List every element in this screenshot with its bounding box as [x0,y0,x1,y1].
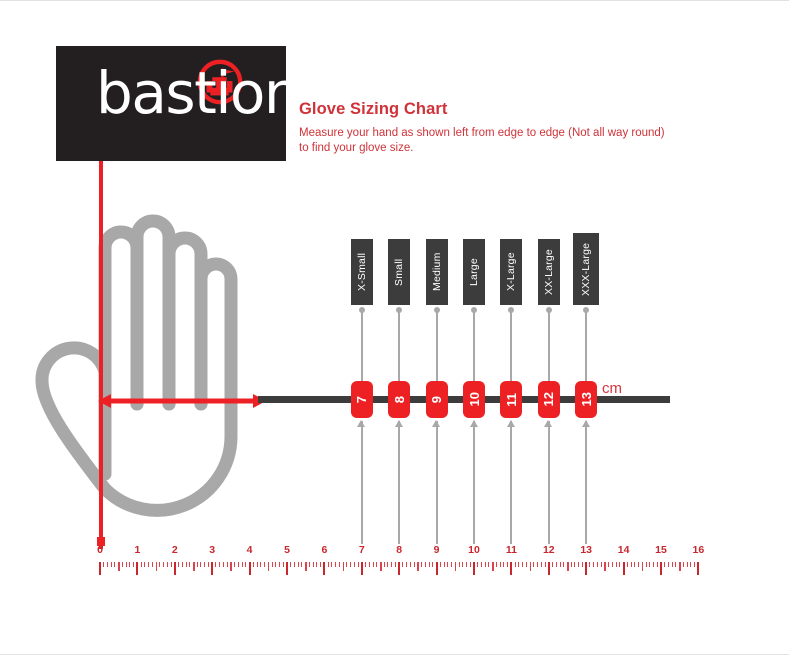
ruler-number: 7 [359,544,365,556]
ruler-tick-major [623,562,625,575]
ruler-tick-mid [604,562,606,571]
ruler-tick-minor [234,562,235,567]
size-badge[interactable]: 8 [388,381,410,418]
ruler-tick-major [436,562,438,575]
ruler-tick-minor [387,562,388,567]
ruler-tick-minor [668,562,669,567]
ruler-tick-mid [492,562,494,571]
ruler-tick-minor [189,562,190,567]
ruler-tick-minor [358,562,359,567]
ruler: 012345678910111213141516 [0,544,789,584]
ruler-tick-mid [193,562,195,571]
ruler-tick-major [99,562,101,575]
ruler-tick-minor [346,562,347,567]
size-badge[interactable]: 9 [426,381,448,418]
ruler-number: 4 [247,544,253,556]
ruler-tick-minor [664,562,665,567]
ruler-tick-minor [503,562,504,567]
ruler-tick-major [174,562,176,575]
ruler-tick-minor [432,562,433,567]
ruler-tick-minor [462,562,463,567]
ruler-tick-minor [541,562,542,567]
ruler-tick-minor [601,562,602,567]
ruler-tick-minor [148,562,149,567]
size-pointer-arrowhead [507,420,515,427]
ruler-number: 9 [434,544,440,556]
ruler-tick-minor [414,562,415,567]
ruler-tick-minor [593,562,594,567]
ruler-number: 10 [468,544,480,556]
ruler-tick-minor [313,562,314,567]
ruler-tick-minor [339,562,340,567]
ruler-tick-minor [152,562,153,567]
ruler-number: 15 [655,544,667,556]
ruler-tick-minor [384,562,385,567]
size-label-box[interactable]: Small [388,239,410,305]
ruler-tick-minor [425,562,426,567]
ruler-tick-minor [574,562,575,567]
ruler-tick-minor [301,562,302,567]
ruler-tick-minor [526,562,527,567]
size-label-box[interactable]: X-Small [351,239,373,305]
ruler-tick-minor [163,562,164,567]
ruler-tick-minor [545,562,546,567]
ruler-tick-minor [582,562,583,567]
connector-line [436,312,438,381]
ruler-tick-minor [410,562,411,567]
size-pointer-stem [510,421,512,544]
ruler-tick-minor [627,562,628,567]
ruler-tick-minor [440,562,441,567]
ruler-tick-mid [642,562,644,571]
ruler-tick-minor [197,562,198,567]
size-label-box[interactable]: XX-Large [538,239,560,305]
ruler-tick-minor [522,562,523,567]
ruler-tick-minor [227,562,228,567]
ruler-tick-major [286,562,288,575]
ruler-tick-mid [156,562,158,571]
size-badge[interactable]: 7 [351,381,373,418]
size-badge-value: 11 [504,393,519,407]
ruler-number: 12 [543,544,555,556]
ruler-tick-minor [126,562,127,567]
double-headed-measure-arrow-icon [96,391,268,411]
connector-line [473,312,475,381]
ruler-tick-minor [316,562,317,567]
ruler-tick-minor [391,562,392,567]
ruler-tick-minor [638,562,639,567]
size-badge-value: 7 [354,396,369,403]
ruler-tick-minor [245,562,246,567]
connector-line [585,312,587,381]
ruler-tick-minor [182,562,183,567]
ruler-tick-major [548,562,550,575]
ruler-tick-minor [260,562,261,567]
size-pointer-stem [548,421,550,544]
ruler-tick-minor [272,562,273,567]
size-label-text: Small [393,258,405,285]
ruler-tick-minor [159,562,160,567]
ruler-tick-minor [369,562,370,567]
size-label-box[interactable]: X-Large [500,239,522,305]
ruler-tick-minor [589,562,590,567]
ruler-tick-minor [634,562,635,567]
ruler-tick-mid [679,562,681,571]
ruler-tick-minor [141,562,142,567]
size-label-text: Large [468,258,480,286]
open-hand-outline-icon [28,199,278,539]
ruler-tick-minor [331,562,332,567]
ruler-tick-minor [690,562,691,567]
ruler-tick-minor [290,562,291,567]
ruler-tick-minor [537,562,538,567]
ruler-tick-mid [343,562,345,571]
ruler-tick-minor [481,562,482,567]
glove-sizing-chart-page: bastion Glove Sizing Chart Measure your … [0,0,789,655]
ruler-tick-minor [283,562,284,567]
ruler-tick-minor [320,562,321,567]
ruler-tick-minor [619,562,620,567]
ruler-tick-minor [107,562,108,567]
size-label-text: X-Large [505,253,517,292]
ruler-tick-minor [444,562,445,567]
size-label-box[interactable]: Medium [426,239,448,305]
ruler-tick-minor [376,562,377,567]
ruler-tick-minor [238,562,239,567]
ruler-tick-minor [122,562,123,567]
ruler-tick-minor [328,562,329,567]
size-pointer-stem [585,421,587,544]
size-badge-value: 12 [541,392,556,406]
ruler-tick-minor [552,562,553,567]
ruler-tick-minor [466,562,467,567]
zero-reference-line [99,161,103,549]
subtitle-line-2: to find your glove size. [299,141,699,156]
connector-line [361,312,363,381]
title-block: Glove Sizing Chart Measure your hand as … [299,100,699,156]
ruler-tick-minor [208,562,209,567]
ruler-tick-minor [129,562,130,567]
ruler-tick-mid [417,562,419,571]
size-pointer-stem [398,421,400,544]
ruler-tick-minor [488,562,489,567]
ruler-tick-minor [373,562,374,567]
ruler-tick-major [510,562,512,575]
ruler-number: 3 [209,544,215,556]
ruler-tick-minor [612,562,613,567]
ruler-tick-minor [657,562,658,567]
ruler-tick-major [585,562,587,575]
ruler-tick-minor [253,562,254,567]
ruler-tick-mid [230,562,232,571]
ruler-tick-major [361,562,363,575]
ruler-tick-minor [406,562,407,567]
ruler-tick-minor [215,562,216,567]
ruler-tick-minor [533,562,534,567]
size-label-box[interactable]: XXX-Large [573,233,599,305]
ruler-tick-minor [687,562,688,567]
ruler-tick-minor [257,562,258,567]
ruler-tick-minor [631,562,632,567]
ruler-tick-minor [402,562,403,567]
ruler-number: 14 [618,544,630,556]
ruler-tick-minor [111,562,112,567]
ruler-tick-minor [350,562,351,567]
size-badge-value: 8 [392,396,407,403]
cm-unit-label: cm [602,380,622,397]
ruler-tick-minor [354,562,355,567]
size-label-text: XX-Large [543,249,555,295]
connector-line [398,312,400,381]
size-pointer-arrowhead [582,420,590,427]
ruler-tick-mid [268,562,270,571]
ruler-tick-minor [365,562,366,567]
ruler-tick-minor [275,562,276,567]
ruler-tick-minor [264,562,265,567]
connector-line [510,312,512,381]
ruler-tick-major [211,562,213,575]
ruler-tick-mid [380,562,382,571]
ruler-tick-minor [571,562,572,567]
ruler-tick-minor [200,562,201,567]
ruler-tick-major [323,562,325,575]
size-label-box[interactable]: Large [463,239,485,305]
ruler-tick-minor [178,562,179,567]
ruler-number: 8 [396,544,402,556]
ruler-tick-minor [597,562,598,567]
size-badge[interactable]: 10 [463,381,485,418]
ruler-tick-minor [683,562,684,567]
size-badge[interactable]: 12 [538,381,560,418]
ruler-number: 13 [580,544,592,556]
ruler-number: 6 [321,544,327,556]
ruler-number: 5 [284,544,290,556]
size-label-text: Medium [431,253,443,292]
ruler-tick-minor [294,562,295,567]
ruler-tick-minor [560,562,561,567]
size-badge-value: 9 [429,396,444,403]
ruler-tick-minor [672,562,673,567]
ruler-tick-mid [305,562,307,571]
ruler-tick-major [398,562,400,575]
ruler-tick-minor [298,562,299,567]
page-title: Glove Sizing Chart [299,100,699,119]
ruler-tick-major [136,562,138,575]
ruler-tick-minor [653,562,654,567]
ruler-number: 2 [172,544,178,556]
ruler-tick-minor [395,562,396,567]
ruler-tick-minor [223,562,224,567]
size-pointer-stem [473,421,475,544]
ruler-tick-minor [518,562,519,567]
ruler-tick-minor [279,562,280,567]
ruler-tick-minor [204,562,205,567]
connector-line [548,312,550,381]
ruler-tick-minor [477,562,478,567]
ruler-tick-minor [447,562,448,567]
ruler-tick-minor [515,562,516,567]
ruler-tick-minor [421,562,422,567]
ruler-number: 16 [693,544,705,556]
ruler-tick-minor [335,562,336,567]
subtitle-line-1: Measure your hand as shown left from edg… [299,126,699,141]
ruler-tick-minor [649,562,650,567]
ruler-tick-minor [675,562,676,567]
ruler-tick-minor [186,562,187,567]
ruler-tick-minor [563,562,564,567]
ruler-tick-minor [451,562,452,567]
ruler-tick-mid [530,562,532,571]
ruler-tick-minor [309,562,310,567]
size-pointer-arrowhead [395,420,403,427]
ruler-tick-minor [459,562,460,567]
ruler-tick-minor [578,562,579,567]
size-pointer-arrowhead [432,420,440,427]
ruler-tick-major [249,562,251,575]
ruler-tick-minor [556,562,557,567]
size-label-text: X-Small [356,253,368,291]
ruler-tick-major [473,562,475,575]
ruler-tick-minor [167,562,168,567]
ruler-tick-minor [496,562,497,567]
ruler-tick-minor [470,562,471,567]
size-pointer-stem [436,421,438,544]
size-pointer-arrowhead [470,420,478,427]
size-pointer-arrowhead [357,420,365,427]
ruler-tick-minor [507,562,508,567]
ruler-number: 1 [134,544,140,556]
brand-logo-box: bastion [56,46,286,161]
size-label-text: XXX-Large [580,242,592,295]
ruler-tick-minor [608,562,609,567]
ruler-tick-minor [500,562,501,567]
ruler-tick-minor [429,562,430,567]
ruler-tick-minor [219,562,220,567]
ruler-tick-minor [144,562,145,567]
size-pointer-stem [361,421,363,544]
size-badge-value: 13 [579,392,594,406]
size-badge[interactable]: 13 [575,381,597,418]
ruler-tick-minor [242,562,243,567]
ruler-tick-minor [103,562,104,567]
ruler-tick-minor [616,562,617,567]
ruler-tick-minor [114,562,115,567]
brand-wordmark: bastion [96,64,299,122]
ruler-tick-mid [455,562,457,571]
ruler-number: 0 [97,544,103,556]
ruler-tick-minor [485,562,486,567]
ruler-number: 11 [506,544,517,556]
ruler-tick-minor [133,562,134,567]
size-badge-value: 10 [467,392,482,406]
size-badge[interactable]: 11 [500,381,522,418]
ruler-tick-minor [171,562,172,567]
ruler-tick-major [697,562,699,575]
ruler-tick-minor [646,562,647,567]
ruler-tick-major [660,562,662,575]
ruler-tick-mid [118,562,120,571]
size-pointer-arrowhead [544,420,552,427]
ruler-tick-minor [694,562,695,567]
ruler-tick-mid [567,562,569,571]
